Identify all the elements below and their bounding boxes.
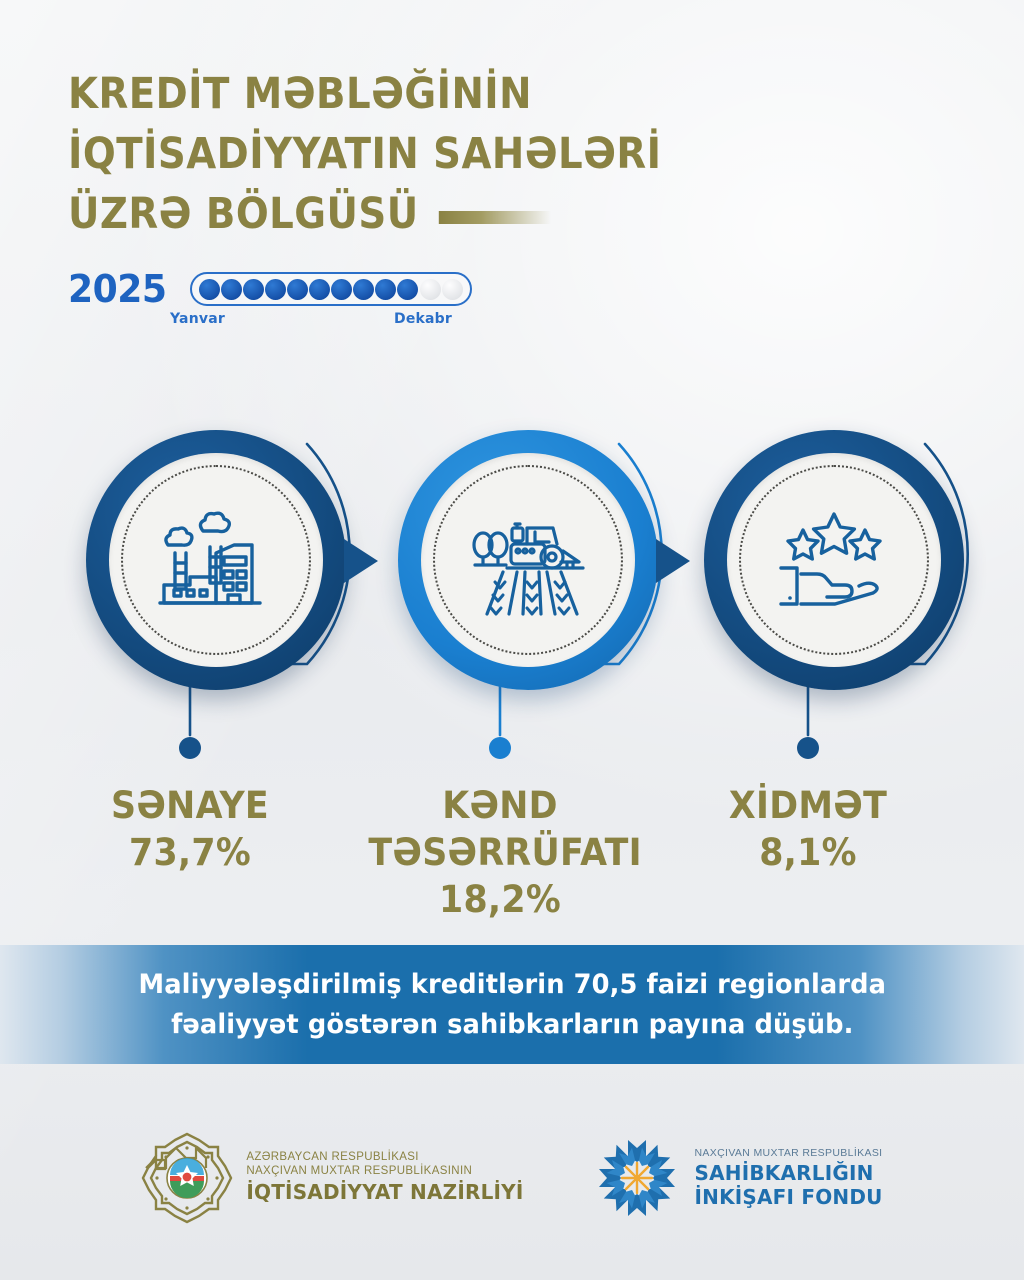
dotted-border-service	[739, 465, 929, 655]
ministry-logo-text: AZƏRBAYCAN RESPUBLİKASI NAXÇIVAN MUXTAR …	[246, 1150, 523, 1204]
sector-name-agriculture-l2: TƏSƏRRÜFATI	[368, 829, 631, 876]
connector-dot-industry	[179, 737, 201, 759]
dotted-border-agriculture	[433, 465, 623, 655]
icon-plate-service	[727, 453, 941, 667]
connector-dot-agriculture	[489, 737, 511, 759]
azerbaijan-star-emblem-icon	[141, 1132, 233, 1224]
icon-plate-industry	[109, 453, 323, 667]
sector-percent-agriculture: 18,2%	[368, 876, 631, 923]
icon-plate-agriculture	[421, 453, 635, 667]
highlight-banner: Maliyyələşdirilmiş kreditlərin 70,5 faiz…	[0, 945, 1024, 1064]
sector-node-agriculture[interactable]	[388, 416, 678, 706]
footer-logos: AZƏRBAYCAN RESPUBLİKASI NAXÇIVAN MUXTAR …	[0, 1120, 1024, 1235]
connector-dot-service	[797, 737, 819, 759]
banner-text: Maliyyələşdirilmiş kreditlərin 70,5 faiz…	[138, 965, 886, 1045]
flow-arrow-2	[656, 539, 690, 583]
ministry-line-3: İQTİSADİYYAT NAZİRLİYİ	[246, 1180, 523, 1204]
sector-node-industry[interactable]	[76, 416, 366, 706]
sector-percent-service: 8,1%	[676, 829, 939, 876]
ministry-line-2: NAXÇIVAN MUXTAR RESPUBLİKASININ	[246, 1164, 523, 1178]
ministry-line-1: AZƏRBAYCAN RESPUBLİKASI	[246, 1150, 523, 1164]
fund-line-3: İNKİŞAFI FONDU	[694, 1186, 882, 1208]
sector-name-service: XİDMƏT	[676, 782, 939, 829]
sector-caption-industry: SƏNAYE 73,7%	[50, 782, 330, 876]
sector-caption-service: XİDMƏT 8,1%	[668, 782, 948, 876]
fund-logo-text: NAXÇIVAN MUXTAR RESPUBLİKASI SAHİBKARLIĞ…	[694, 1147, 882, 1209]
fund-logo-block[interactable]: NAXÇIVAN MUXTAR RESPUBLİKASI SAHİBKARLIĞ…	[593, 1134, 882, 1222]
banner-line-2: fəaliyyət göstərən sahibkarların payına …	[138, 1005, 886, 1045]
flow-arrow-1	[344, 539, 378, 583]
sector-name-agriculture-l1: KƏND	[368, 782, 631, 829]
fund-line-2: SAHİBKARLIĞIN	[694, 1162, 882, 1184]
fund-line-1: NAXÇIVAN MUXTAR RESPUBLİKASI	[694, 1147, 882, 1160]
ministry-logo-block[interactable]: AZƏRBAYCAN RESPUBLİKASI NAXÇIVAN MUXTAR …	[141, 1132, 523, 1224]
sector-percent-industry: 73,7%	[58, 829, 321, 876]
sector-name-industry: SƏNAYE	[58, 782, 321, 829]
sector-caption-agriculture: KƏND TƏSƏRRÜFATI 18,2%	[360, 782, 640, 923]
sector-node-service[interactable]	[694, 416, 984, 706]
dotted-border-industry	[121, 465, 311, 655]
banner-line-1: Maliyyələşdirilmiş kreditlərin 70,5 faiz…	[138, 965, 886, 1005]
fund-star-emblem-icon	[593, 1134, 681, 1222]
